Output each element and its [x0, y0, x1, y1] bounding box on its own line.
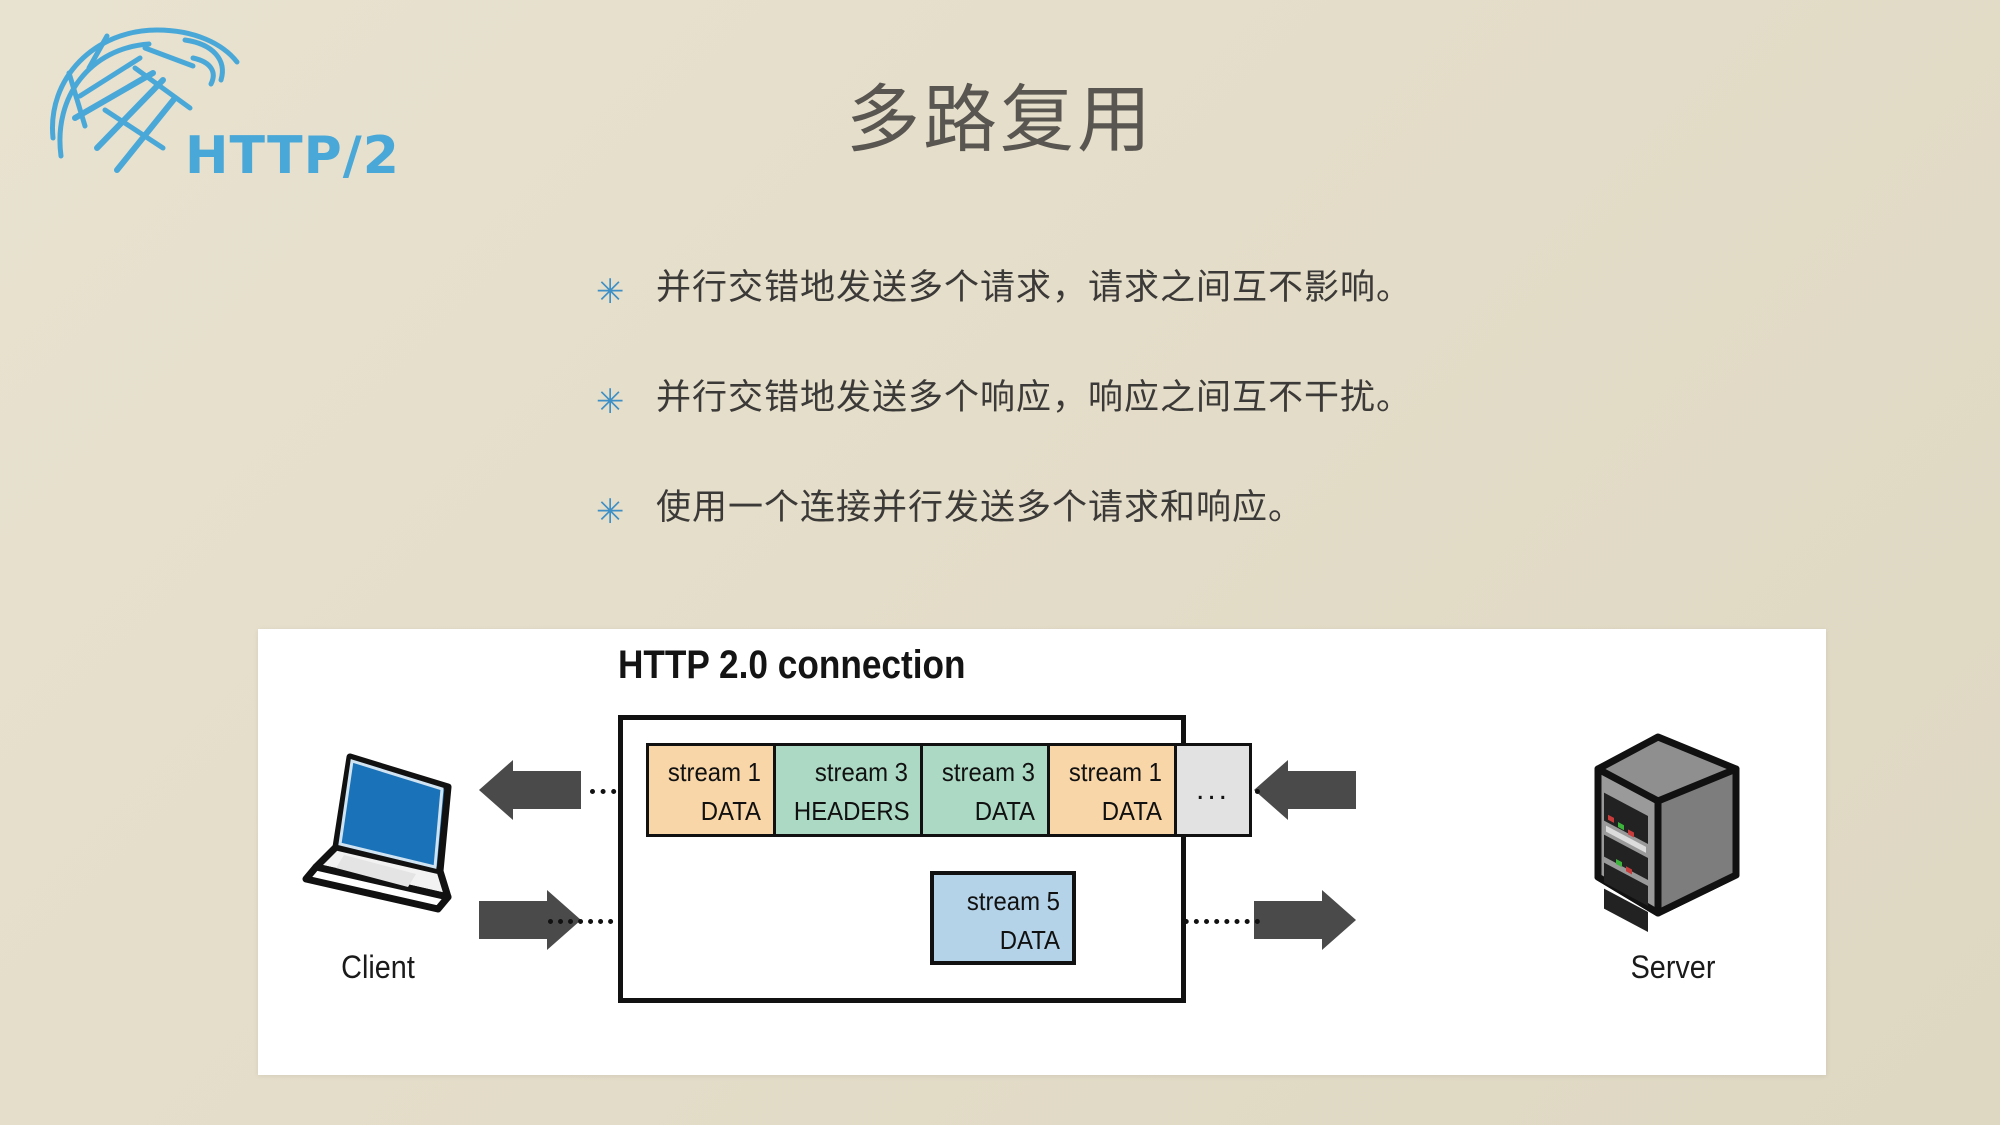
list-item: ✳ 并行交错地发送多个响应，响应之间互不干扰。	[596, 375, 1696, 485]
asterisk-bullet-icon: ✳	[596, 375, 656, 425]
stream-frame: stream 3 HEADERS	[773, 743, 923, 837]
stream-frame-type: HEADERS	[794, 792, 908, 831]
stream-frame: stream 3 DATA	[920, 743, 1050, 837]
stream-frame-row-top: stream 1 DATA stream 3 HEADERS stream 3 …	[646, 743, 1249, 837]
list-item: ✳ 使用一个连接并行发送多个请求和响应。	[596, 485, 1696, 595]
stream-frame-type: DATA	[939, 792, 1035, 831]
asterisk-bullet-icon: ✳	[596, 265, 656, 315]
stream-frame-type: DATA	[665, 792, 761, 831]
list-item: ✳ 并行交错地发送多个请求，请求之间互不影响。	[596, 265, 1696, 375]
stream-frame-type: DATA	[1066, 792, 1162, 831]
stream-frame-stream: stream 3	[939, 753, 1035, 792]
stream-frame: stream 5 DATA	[930, 871, 1076, 965]
slide-canvas: HTTP/2 多路复用 ✳ 并行交错地发送多个请求，请求之间互不影响。 ✳ 并行…	[0, 0, 2000, 1125]
stream-frame-stream: stream 1	[1066, 753, 1162, 792]
asterisk-bullet-icon: ✳	[596, 485, 656, 535]
stream-frame-ellipsis: ...	[1174, 743, 1252, 837]
stream-frame-stream: stream 3	[794, 753, 908, 792]
bullet-text: 使用一个连接并行发送多个请求和响应。	[656, 485, 1304, 531]
stream-frame-stream: stream 5	[951, 882, 1060, 921]
bullet-text: 并行交错地发送多个响应，响应之间互不干扰。	[656, 375, 1412, 421]
stream-frame-stream: stream 1	[665, 753, 761, 792]
client-laptop-icon	[288, 739, 468, 939]
stream-frame: stream 1 DATA	[1047, 743, 1177, 837]
bullet-text: 并行交错地发送多个请求，请求之间互不影响。	[656, 265, 1412, 311]
stream-frame: stream 1 DATA	[646, 743, 776, 837]
diagram-title: HTTP 2.0 connection	[618, 643, 966, 688]
ellipsis-label: ...	[1177, 746, 1249, 834]
bullet-list: ✳ 并行交错地发送多个请求，请求之间互不影响。 ✳ 并行交错地发送多个响应，响应…	[596, 265, 1696, 595]
page-title: 多路复用	[0, 60, 2000, 167]
multiplexing-diagram: HTTP 2.0 connection Client	[258, 629, 1826, 1075]
stream-frame-type: DATA	[951, 921, 1060, 960]
server-label: Server	[1588, 949, 1759, 986]
client-label: Client	[297, 949, 459, 986]
server-tower-icon	[1586, 717, 1761, 932]
